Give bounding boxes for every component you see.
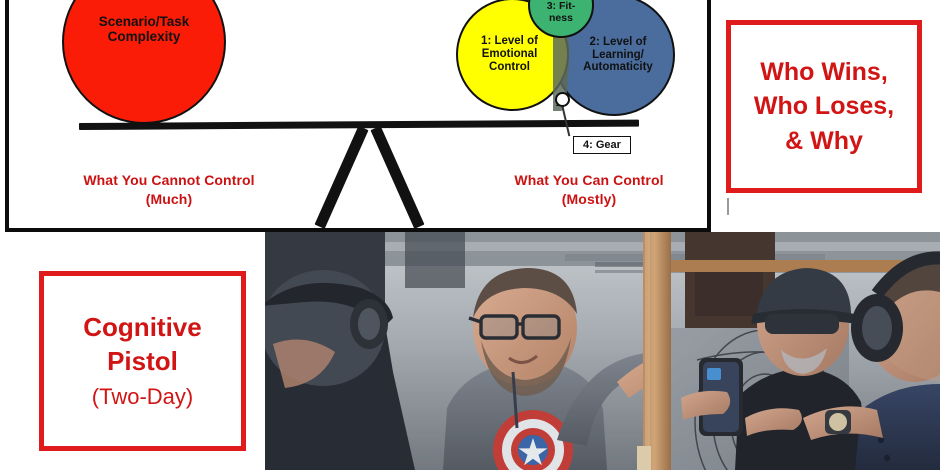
circle-yellow-line1: 1: Level of: [481, 35, 538, 47]
who-wins-line1: Who Wins,: [760, 55, 888, 90]
who-wins-line2: Who Loses,: [754, 89, 894, 124]
who-wins-line3: & Why: [785, 124, 863, 159]
circle-red-line2: Complexity: [108, 29, 181, 44]
circle-yellow-line2: Emotional: [482, 48, 538, 60]
caption-can-control: What You Can Control (Mostly): [474, 171, 704, 209]
circle-green-line1: 3: Fit-: [547, 0, 576, 12]
course-title-box: Cognitive Pistol (Two-Day): [39, 271, 246, 451]
circle-blue-line2: Learning/: [592, 49, 644, 61]
photo-illustration: [265, 232, 940, 470]
course-title-line2: Pistol: [107, 345, 178, 379]
circle-yellow-line3: Control: [489, 61, 530, 73]
caption-cannot-control-line2: (Much): [146, 191, 192, 207]
circle-green-line2: ness: [549, 12, 573, 24]
caption-cannot-control: What You Cannot Control (Much): [49, 171, 289, 209]
fulcrum-left-leg: [315, 126, 369, 229]
poster-canvas: Scenario/Task Complexity 2: Level of Lea…: [0, 0, 940, 470]
course-title-subtitle: (Two-Day): [92, 383, 193, 412]
balance-scale-diagram: Scenario/Task Complexity 2: Level of Lea…: [5, 0, 711, 232]
fulcrum-right-leg: [370, 126, 424, 229]
caption-can-control-line1: What You Can Control: [514, 172, 663, 188]
text-caret-artifact: [727, 198, 729, 215]
circle-blue-line3: Automaticity: [583, 61, 653, 73]
caption-cannot-control-line1: What You Cannot Control: [83, 172, 254, 188]
range-training-photo: [265, 232, 940, 470]
gear-node-circle: [555, 92, 570, 107]
who-wins-callout-box: Who Wins, Who Loses, & Why: [726, 20, 922, 193]
circle-blue-line1: 2: Level of: [590, 36, 647, 48]
course-title-line1: Cognitive: [83, 311, 201, 345]
caption-can-control-line2: (Mostly): [562, 191, 616, 207]
circle-scenario-task-complexity: Scenario/Task Complexity: [62, 0, 226, 124]
circle-red-line1: Scenario/Task: [99, 14, 190, 29]
gear-callout-label: 4: Gear: [573, 136, 631, 154]
